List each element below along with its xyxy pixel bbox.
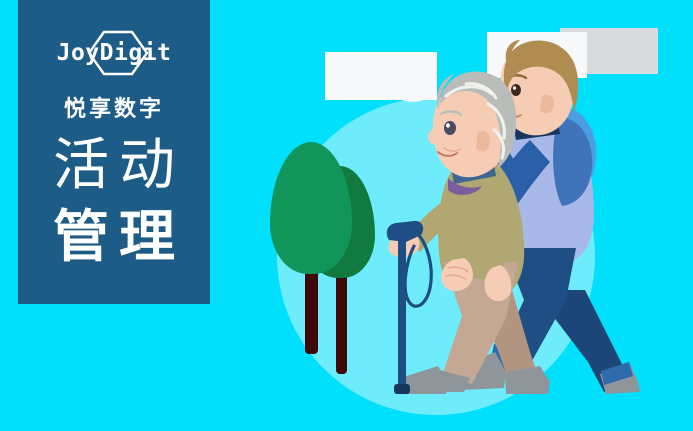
logo-block: JoyDigit 悦享数字 xyxy=(18,30,210,123)
joydigit-logo: JoyDigit xyxy=(39,30,189,76)
brand-panel: JoyDigit 悦享数字 活动 管理 xyxy=(18,0,210,304)
page-title-line-2: 管理 xyxy=(18,202,210,274)
logo-wordmark: JoyDigit xyxy=(39,39,189,67)
activity-management-banner: JoyDigit 悦享数字 活动 管理 xyxy=(0,0,693,431)
page-title-line-1: 活动 xyxy=(18,130,210,202)
page-title: 活动 管理 xyxy=(18,130,210,274)
logo-chinese-name: 悦享数字 xyxy=(18,91,210,123)
